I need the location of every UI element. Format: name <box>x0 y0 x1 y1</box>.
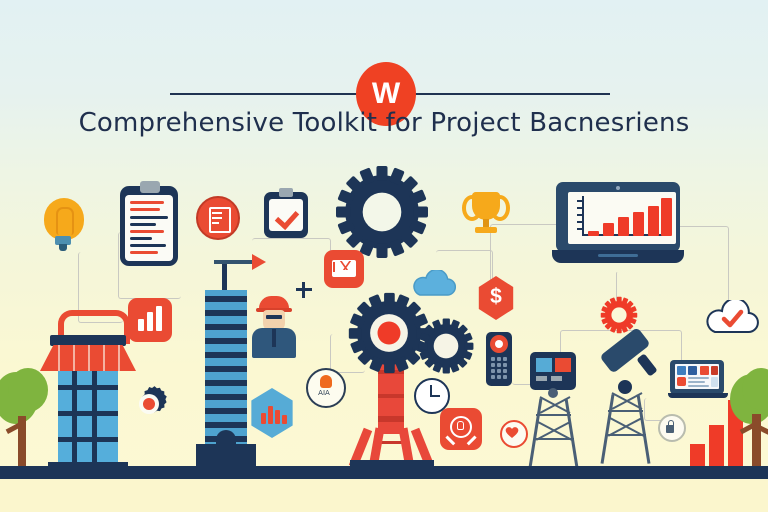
lightbulb-icon <box>42 198 86 260</box>
gear-large-icon <box>336 166 428 258</box>
dashboard-screen <box>675 364 719 389</box>
seal-badge-icon: AIA <box>306 368 346 408</box>
dashboard-laptop <box>668 360 728 402</box>
infographic-canvas: W Comprehensive Toolkit for Project Bacn… <box>0 0 768 512</box>
gear-icon <box>130 384 170 424</box>
lock-icon <box>658 414 686 442</box>
monitoring-pylon <box>526 352 580 468</box>
clipboard-check-icon <box>264 192 308 238</box>
worker-avatar <box>252 296 296 358</box>
dollar-sign-label: $ <box>476 285 516 309</box>
seal-badge-label: AIA <box>308 389 340 397</box>
search-location-icon <box>440 408 482 450</box>
gear-red-icon <box>600 296 638 334</box>
page-title: Comprehensive Toolkit for Project Bacnes… <box>0 108 768 138</box>
ground-strip <box>0 466 768 479</box>
header-rule-right <box>415 93 610 95</box>
gear-small-icon <box>418 318 474 374</box>
laptop-chart <box>552 182 684 274</box>
plus-icon <box>296 282 312 298</box>
remote-control-icon <box>486 332 512 386</box>
header-rule-left <box>170 93 360 95</box>
clipboard-document-icon <box>120 186 178 266</box>
tree <box>726 368 768 468</box>
foreground-apron <box>0 479 768 512</box>
laptop-chart-screen <box>568 192 676 244</box>
trophy-icon <box>462 192 510 238</box>
heart-icon <box>500 420 528 448</box>
document-badge-icon <box>196 196 240 240</box>
header: W Comprehensive Toolkit for Project Bacn… <box>0 0 768 160</box>
brand-badge-letter: W <box>372 79 400 109</box>
telescope-pylon <box>598 348 656 468</box>
tree <box>0 368 56 468</box>
envelope-icon <box>324 250 364 288</box>
crane-tower <box>196 248 256 468</box>
cloud-check-icon <box>702 300 760 334</box>
